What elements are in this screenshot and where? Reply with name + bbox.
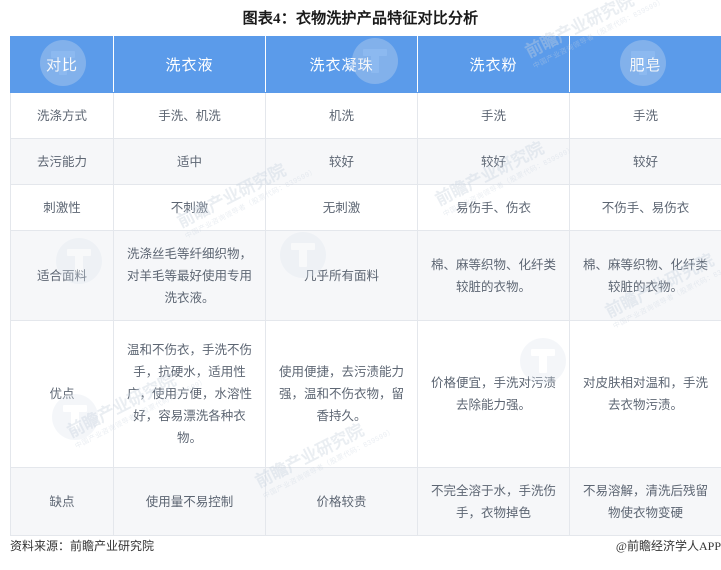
- cell-wash-method-soap: 手洗: [570, 93, 721, 139]
- table-row: 适合面料 洗涤丝毛等纤细织物，对羊毛等最好使用专用洗衣液。 几乎所有面料 棉、麻…: [11, 231, 721, 321]
- table-header-row: 对比 洗衣液 洗衣凝珠 洗衣粉 肥皂: [11, 37, 721, 93]
- row-label-suitable-fabric: 适合面料: [11, 231, 114, 321]
- cell-suitable-fabric-powder: 棉、麻等织物、化纤类较脏的衣物。: [418, 231, 570, 321]
- cell-irritation-liquid: 不刺激: [114, 185, 266, 231]
- cell-cleaning-power-liquid: 适中: [114, 139, 266, 185]
- cell-pros-powder: 价格便宜，手洗对污渍去除能力强。: [418, 321, 570, 468]
- app-attribution: @前瞻经济学人APP: [616, 537, 721, 554]
- table-row: 优点 温和不伤衣，手洗不伤手，抗硬水，适用性广，使用方便，水溶性好，容易漂洗各种…: [11, 321, 721, 468]
- cell-cleaning-power-pods: 较好: [266, 139, 418, 185]
- row-label-irritation: 刺激性: [11, 185, 114, 231]
- footer: 资料来源：前瞻产业研究院 @前瞻经济学人APP: [10, 537, 721, 557]
- cell-suitable-fabric-pods: 几乎所有面料: [266, 231, 418, 321]
- source-note: 资料来源：前瞻产业研究院: [10, 537, 154, 554]
- comparison-table: 对比 洗衣液 洗衣凝珠 洗衣粉 肥皂 洗涤方式 手洗、机洗 机洗 手洗 手洗 去…: [10, 36, 721, 536]
- cell-suitable-fabric-liquid: 洗涤丝毛等纤细织物，对羊毛等最好使用专用洗衣液。: [114, 231, 266, 321]
- cell-pros-liquid: 温和不伤衣，手洗不伤手，抗硬水，适用性广，使用方便，水溶性好，容易漂洗各种衣物。: [114, 321, 266, 468]
- column-header-compare: 对比: [11, 37, 114, 93]
- chart-page: 图表4：衣物洗护产品特征对比分析 前瞻产业研究院 中国产业咨询领导者（股票代码：…: [0, 0, 721, 570]
- cell-wash-method-pods: 机洗: [266, 93, 418, 139]
- cell-cleaning-power-soap: 较好: [570, 139, 721, 185]
- table-row: 洗涤方式 手洗、机洗 机洗 手洗 手洗: [11, 93, 721, 139]
- cell-cons-soap: 不易溶解，清洗后残留物使衣物变硬: [570, 468, 721, 536]
- table-row: 去污能力 适中 较好 较好 较好: [11, 139, 721, 185]
- comparison-table-container: 对比 洗衣液 洗衣凝珠 洗衣粉 肥皂 洗涤方式 手洗、机洗 机洗 手洗 手洗 去…: [10, 36, 721, 536]
- cell-irritation-soap: 不伤手、易伤衣: [570, 185, 721, 231]
- cell-cons-powder: 不完全溶于水，手洗伤手，衣物掉色: [418, 468, 570, 536]
- cell-suitable-fabric-soap: 棉、麻等织物、化纤类较脏的衣物。: [570, 231, 721, 321]
- row-label-wash-method: 洗涤方式: [11, 93, 114, 139]
- column-header-soap: 肥皂: [570, 37, 721, 93]
- cell-irritation-pods: 无刺激: [266, 185, 418, 231]
- column-header-powder: 洗衣粉: [418, 37, 570, 93]
- cell-pros-pods: 使用便捷，去污渍能力强，温和不伤衣物，留香持久。: [266, 321, 418, 468]
- column-header-liquid: 洗衣液: [114, 37, 266, 93]
- cell-cleaning-power-powder: 较好: [418, 139, 570, 185]
- cell-cons-pods: 价格较贵: [266, 468, 418, 536]
- column-header-pods: 洗衣凝珠: [266, 37, 418, 93]
- cell-pros-soap: 对皮肤相对温和，手洗去衣物污渍。: [570, 321, 721, 468]
- cell-cons-liquid: 使用量不易控制: [114, 468, 266, 536]
- row-label-pros: 优点: [11, 321, 114, 468]
- table-row: 刺激性 不刺激 无刺激 易伤手、伤衣 不伤手、易伤衣: [11, 185, 721, 231]
- table-body: 洗涤方式 手洗、机洗 机洗 手洗 手洗 去污能力 适中 较好 较好 较好 刺激性…: [11, 93, 721, 536]
- table-header: 对比 洗衣液 洗衣凝珠 洗衣粉 肥皂: [11, 37, 721, 93]
- cell-wash-method-powder: 手洗: [418, 93, 570, 139]
- row-label-cons: 缺点: [11, 468, 114, 536]
- cell-irritation-powder: 易伤手、伤衣: [418, 185, 570, 231]
- cell-wash-method-liquid: 手洗、机洗: [114, 93, 266, 139]
- row-label-cleaning-power: 去污能力: [11, 139, 114, 185]
- page-title: 图表4：衣物洗护产品特征对比分析: [0, 9, 721, 29]
- table-row: 缺点 使用量不易控制 价格较贵 不完全溶于水，手洗伤手，衣物掉色 不易溶解，清洗…: [11, 468, 721, 536]
